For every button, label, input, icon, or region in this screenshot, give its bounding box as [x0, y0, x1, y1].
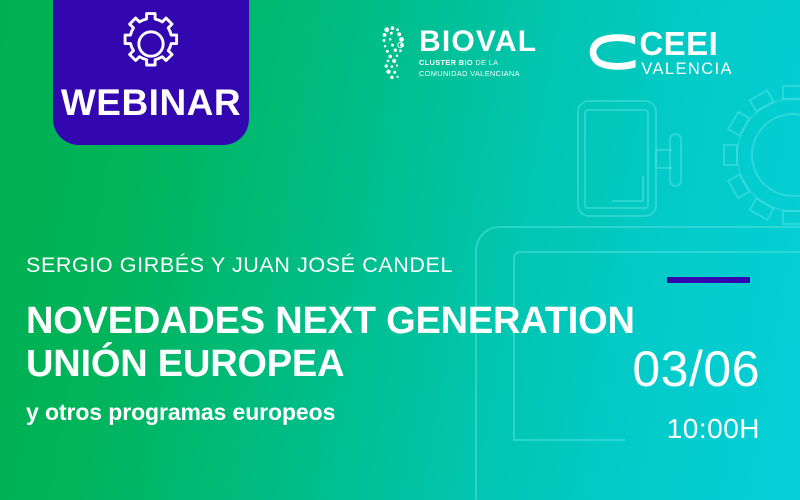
bioval-wordmark: BIOVAL	[419, 27, 537, 57]
event-date: 03/06	[632, 344, 760, 394]
ceei-swoosh-icon	[589, 33, 637, 73]
gear-icon	[119, 12, 183, 76]
tablet-corner-mark	[612, 176, 643, 201]
tablet-outline-inner	[585, 110, 648, 208]
webinar-badge: WEBINAR	[53, 0, 249, 145]
title-line-2: UNIÓN EUROPEA	[26, 343, 635, 386]
webinar-poster: WEBINAR	[0, 0, 800, 500]
webinar-label: WEBINAR	[61, 84, 241, 121]
knob-body	[670, 134, 681, 186]
logo-row: BIOVAL CLUSTER BIO DE LA COMUNIDAD VALEN…	[380, 20, 780, 86]
knob-stem	[656, 150, 672, 168]
bioval-tagline-line2: COMUNIDAD VALENCIANA	[419, 69, 537, 79]
event-time: 10:00H	[667, 415, 760, 443]
tablet-outline-outer	[578, 101, 656, 216]
ceei-subtitle: VALENCIA	[641, 61, 733, 78]
page-title: NOVEDADES NEXT GENERATION UNIÓN EUROPEA	[26, 300, 635, 386]
bioval-tagline-line1: CLUSTER BIO DE LA	[419, 58, 537, 68]
title-line-1: NOVEDADES NEXT GENERATION	[26, 300, 635, 343]
accent-bar	[667, 277, 750, 283]
ceei-wordmark: CEEI	[639, 28, 733, 59]
bioval-tagline-bold: CLUSTER BIO	[419, 58, 473, 67]
speakers-line: SERGIO GIRBÉS Y JUAN JOSÉ CANDEL	[26, 253, 453, 278]
bioval-logo: BIOVAL CLUSTER BIO DE LA COMUNIDAD VALEN…	[380, 22, 537, 84]
ceei-logo: CEEI VALENCIA	[589, 24, 733, 82]
bioval-tagline-rest: DE LA	[473, 58, 499, 67]
large-gear-outline	[724, 86, 800, 224]
dna-helix-icon	[380, 24, 414, 82]
page-subtitle: y otros programas europeos	[26, 399, 335, 426]
